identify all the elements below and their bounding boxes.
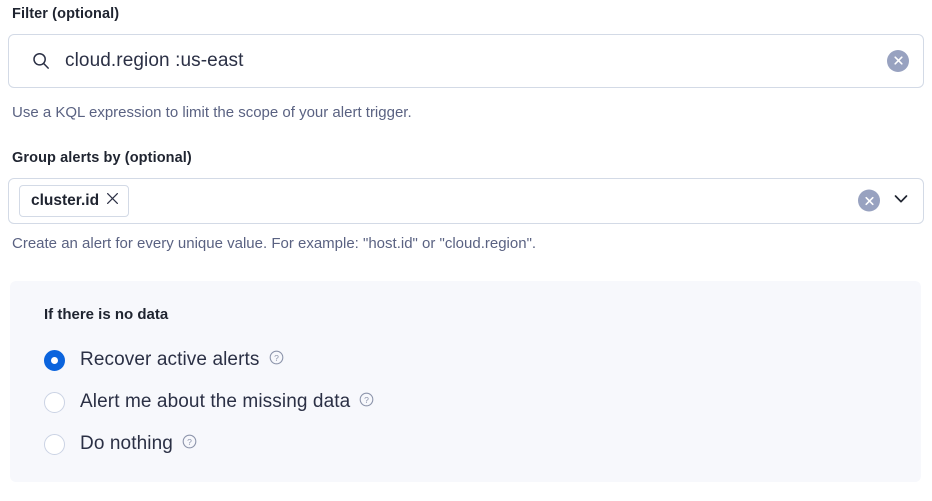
close-icon[interactable] [106, 192, 119, 210]
question-circle-icon[interactable]: ? [359, 392, 374, 412]
pill-label: cluster.id [31, 192, 99, 210]
radio-label-alert: Alert me about the missing data [80, 391, 350, 413]
filter-clear-button[interactable] [887, 50, 909, 72]
no-data-title: If there is no data [44, 307, 921, 322]
filter-input-value[interactable]: cloud.region :us-east [65, 50, 243, 72]
radio-option-alert[interactable]: Alert me about the missing data ? [44, 386, 921, 418]
radio-label-nothing: Do nothing [80, 433, 173, 455]
radio-indicator-alert[interactable] [44, 392, 65, 413]
svg-text:?: ? [274, 353, 279, 363]
group-alerts-help-text: Create an alert for every unique value. … [8, 236, 536, 251]
group-alerts-clear-button[interactable] [858, 190, 880, 212]
radio-indicator-recover[interactable] [44, 350, 65, 371]
question-circle-icon[interactable]: ? [182, 434, 197, 454]
filter-help-text: Use a KQL expression to limit the scope … [8, 105, 412, 120]
radio-option-recover[interactable]: Recover active alerts ? [44, 344, 921, 376]
filter-search-input[interactable]: cloud.region :us-east [8, 34, 924, 88]
combobox-actions [858, 188, 911, 213]
filter-field-group: Filter (optional) cloud.region :us-east [8, 7, 924, 88]
radio-option-nothing[interactable]: Do nothing ? [44, 428, 921, 460]
alert-rule-form: Filter (optional) cloud.region :us-east … [0, 0, 932, 501]
radio-label-recover: Recover active alerts [80, 349, 260, 371]
filter-label: Filter (optional) [8, 7, 924, 22]
question-circle-icon[interactable]: ? [269, 350, 284, 370]
search-icon [31, 51, 51, 71]
group-alerts-label: Group alerts by (optional) [8, 151, 924, 166]
svg-text:?: ? [364, 395, 369, 405]
group-alerts-field-group: Group alerts by (optional) cluster.id [8, 151, 924, 224]
chevron-down-icon[interactable] [891, 188, 911, 213]
group-alerts-combobox[interactable]: cluster.id [8, 178, 924, 224]
group-alerts-selected-pill[interactable]: cluster.id [19, 185, 129, 217]
svg-text:?: ? [187, 437, 192, 447]
no-data-panel: If there is no data Recover active alert… [10, 281, 921, 482]
radio-indicator-nothing[interactable] [44, 434, 65, 455]
